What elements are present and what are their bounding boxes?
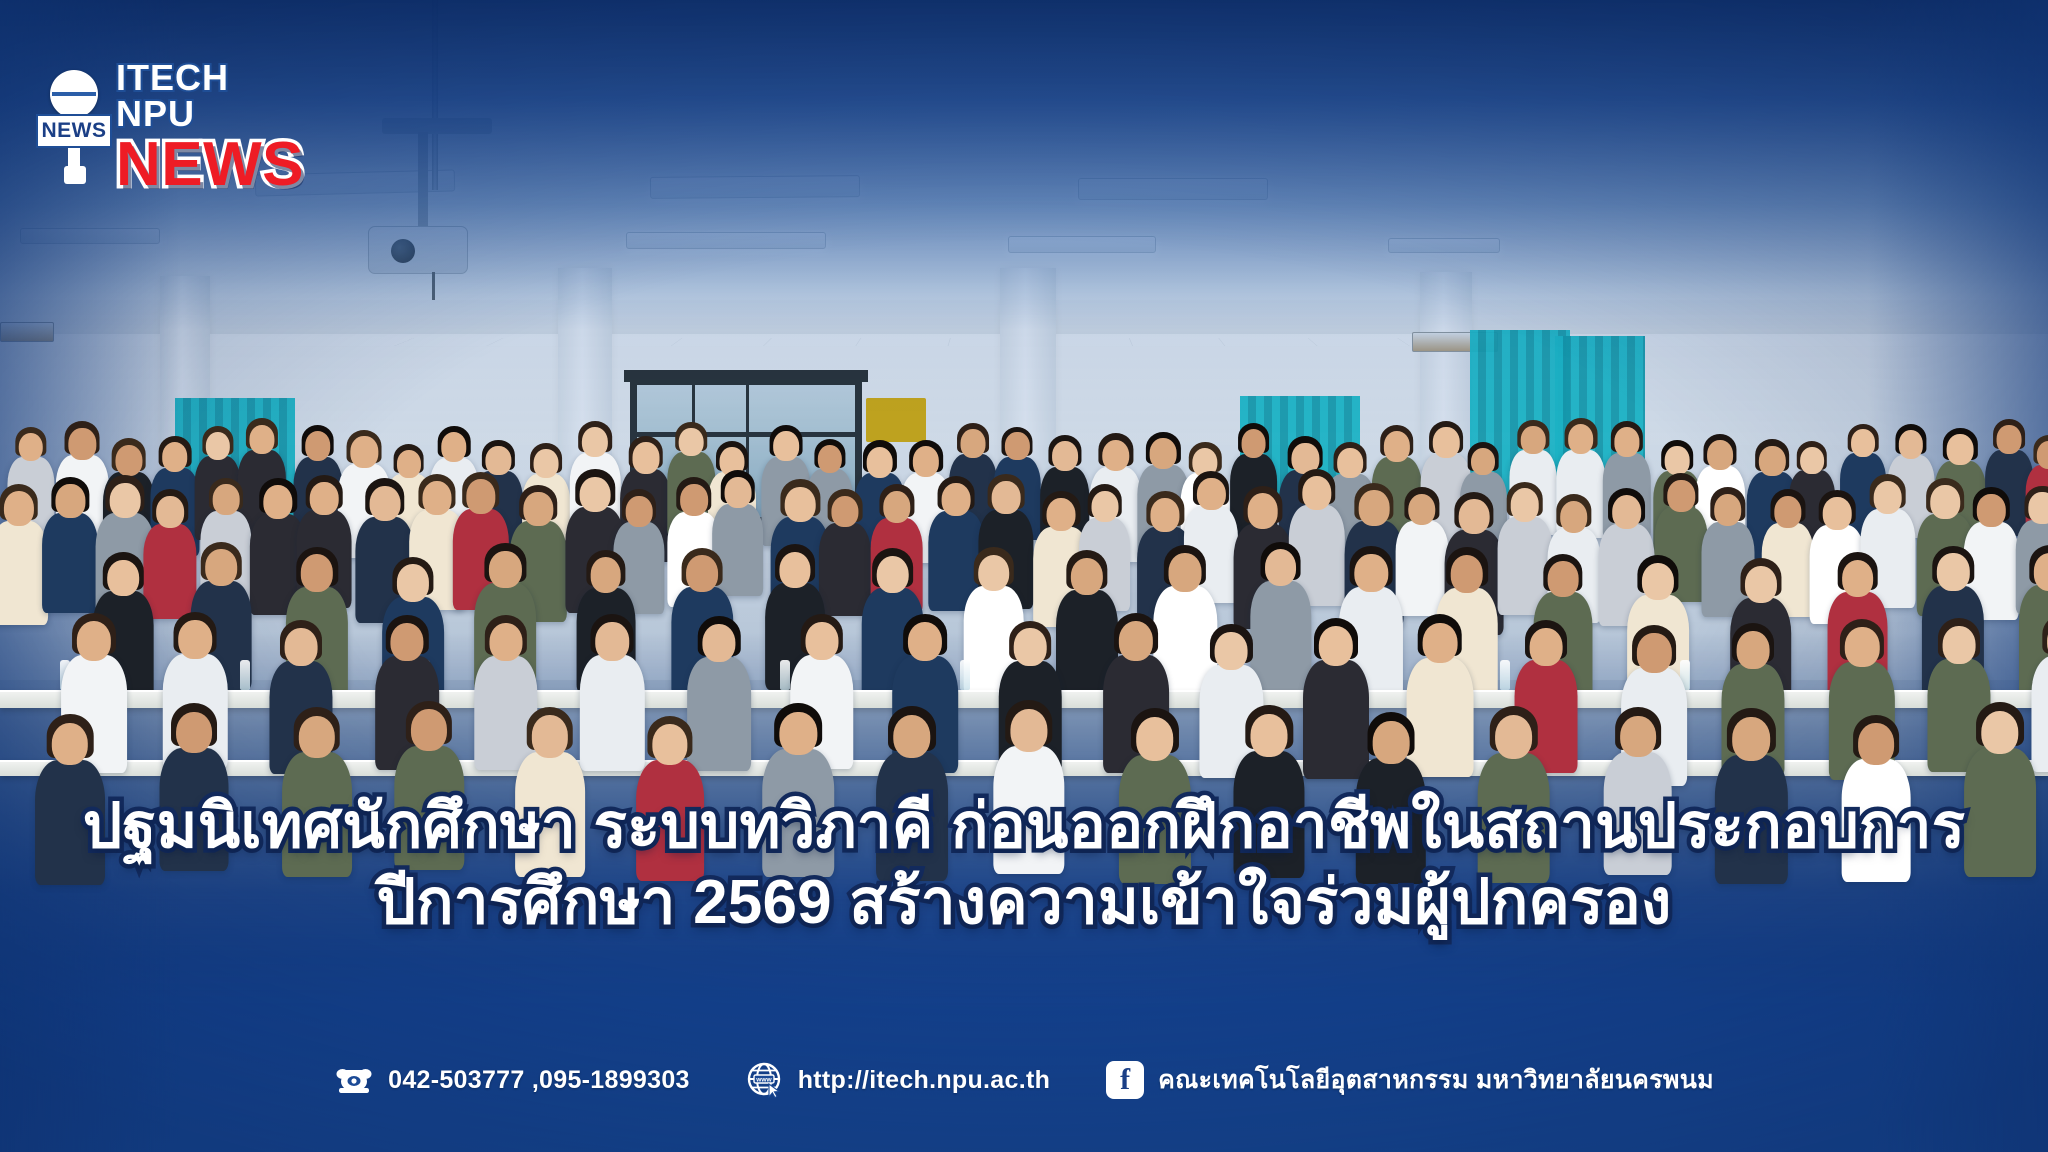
- person-head: [489, 551, 521, 588]
- person-head: [1521, 426, 1546, 454]
- microphone-head-icon: [50, 70, 98, 118]
- news-poster: NEWS ITECH NPU NEWS ปฐมนิเทศนักศึกษา ระบ…: [0, 0, 2048, 1152]
- svg-text:www: www: [755, 1077, 772, 1084]
- person-head: [1568, 424, 1594, 454]
- mic-flag-label: NEWS: [42, 119, 107, 143]
- person-head: [1247, 493, 1278, 529]
- person-head: [1996, 425, 2021, 454]
- audience-person: [581, 614, 643, 775]
- headline-line-1: ปฐมนิเทศนักศึกษา ระบบทวิภาคี ก่อนออกฝึกอ…: [0, 790, 2048, 863]
- audience-person: [44, 477, 98, 617]
- headline-line-2: ปีการศึกษา 2569 สร้างความเข้าใจร่วมผู้ปก…: [0, 863, 2048, 944]
- person-head: [1047, 498, 1076, 532]
- globe-www-icon: www: [746, 1061, 784, 1099]
- person-head: [632, 442, 659, 473]
- person-head: [206, 432, 230, 460]
- person-head: [1851, 429, 1875, 457]
- logo-news-text: NEWS: [116, 134, 296, 196]
- person-head: [310, 482, 339, 515]
- person-head: [52, 723, 88, 765]
- person-head: [1823, 497, 1852, 530]
- person-head: [913, 446, 939, 477]
- person-head: [1384, 431, 1410, 461]
- person-head: [876, 556, 909, 594]
- person-torso: [580, 655, 644, 770]
- person-head: [1977, 494, 2005, 527]
- person-head: [1359, 490, 1390, 526]
- person-head: [1136, 717, 1174, 761]
- person-head: [305, 431, 331, 461]
- person-head: [1745, 566, 1777, 603]
- microphone-news-flag: NEWS: [36, 114, 112, 148]
- person-head: [285, 628, 318, 666]
- person-head: [205, 549, 237, 586]
- water-bottle: [960, 660, 970, 690]
- person-head: [1010, 709, 1047, 752]
- headline: ปฐมนิเทศนักศึกษา ระบบทวิภาคี ก่อนออกฝึกอ…: [0, 790, 2048, 944]
- person-head: [1241, 429, 1266, 458]
- person-head: [1842, 560, 1874, 597]
- person-head: [1981, 711, 2018, 754]
- person-head: [264, 485, 293, 519]
- person-head: [107, 560, 139, 597]
- person-head: [780, 712, 817, 755]
- person-head: [176, 712, 212, 754]
- person-head: [1943, 626, 1976, 664]
- person-head: [69, 428, 96, 460]
- person-head: [1459, 499, 1490, 535]
- person-head: [780, 552, 811, 588]
- person-head: [1265, 549, 1297, 586]
- person-head: [960, 429, 985, 458]
- person-head: [652, 724, 687, 765]
- contact-website[interactable]: www http://itech.npu.ac.th: [746, 1061, 1050, 1099]
- person-head: [250, 425, 275, 454]
- logo-wordmark: ITECH NPU NEWS: [116, 60, 296, 196]
- contact-footer: 042-503777 ,095-1899303 www http://itech…: [0, 1032, 2048, 1152]
- person-head: [590, 557, 621, 593]
- person-head: [1937, 553, 1969, 591]
- person-head: [883, 491, 910, 523]
- person-head: [1119, 621, 1153, 661]
- person-head: [1422, 623, 1457, 663]
- person-head: [1014, 628, 1047, 666]
- water-bottle: [780, 660, 790, 690]
- person-head: [679, 428, 704, 457]
- person-head: [1548, 561, 1579, 597]
- person-head: [301, 554, 333, 592]
- facebook-page-text: คณะเทคโนโลยีอุตสาหกรรม มหาวิทยาลัยนครพนม: [1158, 1060, 1714, 1100]
- person-head: [19, 433, 44, 461]
- person-head: [1302, 476, 1331, 510]
- person-head: [1354, 554, 1387, 593]
- person-head: [1714, 494, 1742, 526]
- person-head: [680, 484, 708, 516]
- person-head: [411, 709, 447, 751]
- person-head: [466, 479, 495, 513]
- microphone-base: [64, 166, 86, 184]
- person-head: [1530, 628, 1563, 666]
- person-head: [1102, 440, 1129, 472]
- person-head: [1091, 491, 1118, 522]
- person-head: [156, 496, 184, 528]
- person-head: [1800, 447, 1824, 475]
- person-head: [489, 623, 522, 661]
- person-head: [162, 442, 188, 472]
- person-head: [1052, 441, 1078, 471]
- person-head: [1930, 485, 1959, 519]
- phone-number-text: 042-503777 ,095-1899303: [388, 1066, 690, 1095]
- person-head: [1733, 717, 1771, 761]
- person-head: [1947, 434, 1974, 465]
- person-head: [773, 431, 799, 461]
- person-head: [1612, 495, 1642, 529]
- person-torso: [2032, 656, 2048, 773]
- person-head: [298, 716, 334, 758]
- person-head: [582, 427, 608, 457]
- person-head: [115, 445, 142, 476]
- audience-person: [2033, 614, 2048, 777]
- person-head: [1614, 427, 1639, 456]
- person-head: [1373, 721, 1410, 764]
- audience-person: [0, 484, 47, 629]
- person-head: [805, 622, 838, 660]
- person-head: [213, 484, 240, 515]
- person-head: [534, 449, 559, 478]
- person-torso: [43, 513, 99, 613]
- person-head: [1451, 555, 1484, 593]
- person-head: [942, 483, 971, 516]
- person-head: [1637, 633, 1671, 673]
- person-head: [1737, 631, 1770, 669]
- person-head: [908, 622, 942, 662]
- person-torso: [0, 521, 48, 625]
- person-head: [1560, 501, 1588, 533]
- telephone-icon: [334, 1063, 374, 1097]
- person-head: [1005, 432, 1029, 460]
- person-head: [1319, 626, 1353, 666]
- person-head: [1620, 716, 1656, 757]
- person-head: [832, 496, 859, 527]
- person-head: [532, 715, 568, 757]
- person-head: [4, 491, 34, 526]
- person-head: [1759, 446, 1785, 477]
- facebook-letter: f: [1120, 1065, 1130, 1095]
- logo-itech-npu-text: ITECH NPU: [116, 60, 296, 132]
- person-head: [1151, 498, 1180, 532]
- person-head: [178, 620, 212, 659]
- person-head: [1495, 715, 1533, 759]
- audience-person: [145, 489, 196, 622]
- person-head: [369, 486, 400, 522]
- person-head: [1774, 496, 1801, 528]
- contact-phone[interactable]: 042-503777 ,095-1899303: [334, 1063, 690, 1097]
- person-head: [1071, 558, 1103, 595]
- person-head: [626, 496, 653, 527]
- person-head: [1665, 446, 1690, 475]
- person-head: [423, 481, 452, 515]
- person-head: [1215, 632, 1248, 670]
- person-head: [703, 624, 736, 663]
- person-head: [893, 715, 930, 758]
- person-head: [1408, 494, 1435, 526]
- person-head: [785, 487, 816, 523]
- person-head: [724, 477, 751, 508]
- person-head: [1510, 488, 1539, 521]
- person-head: [351, 436, 378, 468]
- person-head: [978, 555, 1010, 592]
- person-head: [441, 432, 466, 462]
- person-head: [1845, 627, 1880, 667]
- person-head: [486, 446, 511, 475]
- person-head: [391, 623, 424, 661]
- person-head: [1707, 440, 1733, 470]
- person-head: [580, 477, 611, 513]
- person-head: [397, 564, 429, 601]
- person-head: [1642, 563, 1674, 600]
- person-head: [1668, 480, 1695, 512]
- person-head: [524, 492, 553, 526]
- person-head: [686, 555, 718, 592]
- contact-facebook[interactable]: f คณะเทคโนโลยีอุตสาหกรรม มหาวิทยาลัยนครพ…: [1106, 1060, 1714, 1100]
- person-head: [1433, 427, 1459, 458]
- person-head: [1873, 481, 1902, 514]
- person-head: [2029, 492, 2048, 524]
- water-bottle: [240, 660, 250, 690]
- website-url-text: http://itech.npu.ac.th: [798, 1066, 1050, 1095]
- person-head: [110, 483, 141, 519]
- person-head: [1858, 723, 1894, 765]
- person-head: [866, 447, 893, 478]
- facebook-icon: f: [1106, 1061, 1144, 1099]
- person-head: [992, 481, 1021, 514]
- person-head: [77, 621, 111, 661]
- person-head: [1169, 553, 1202, 591]
- person-head: [595, 622, 629, 661]
- water-bottle: [1500, 660, 1510, 690]
- person-head: [1899, 430, 1923, 458]
- person-head: [817, 445, 841, 473]
- itech-npu-news-logo[interactable]: NEWS ITECH NPU NEWS: [30, 58, 290, 183]
- person-head: [56, 484, 85, 518]
- microphone-icon: NEWS: [38, 62, 112, 182]
- person-head: [1150, 438, 1177, 469]
- person-head: [1197, 478, 1225, 511]
- person-head: [1471, 448, 1495, 476]
- person-head: [1251, 714, 1288, 757]
